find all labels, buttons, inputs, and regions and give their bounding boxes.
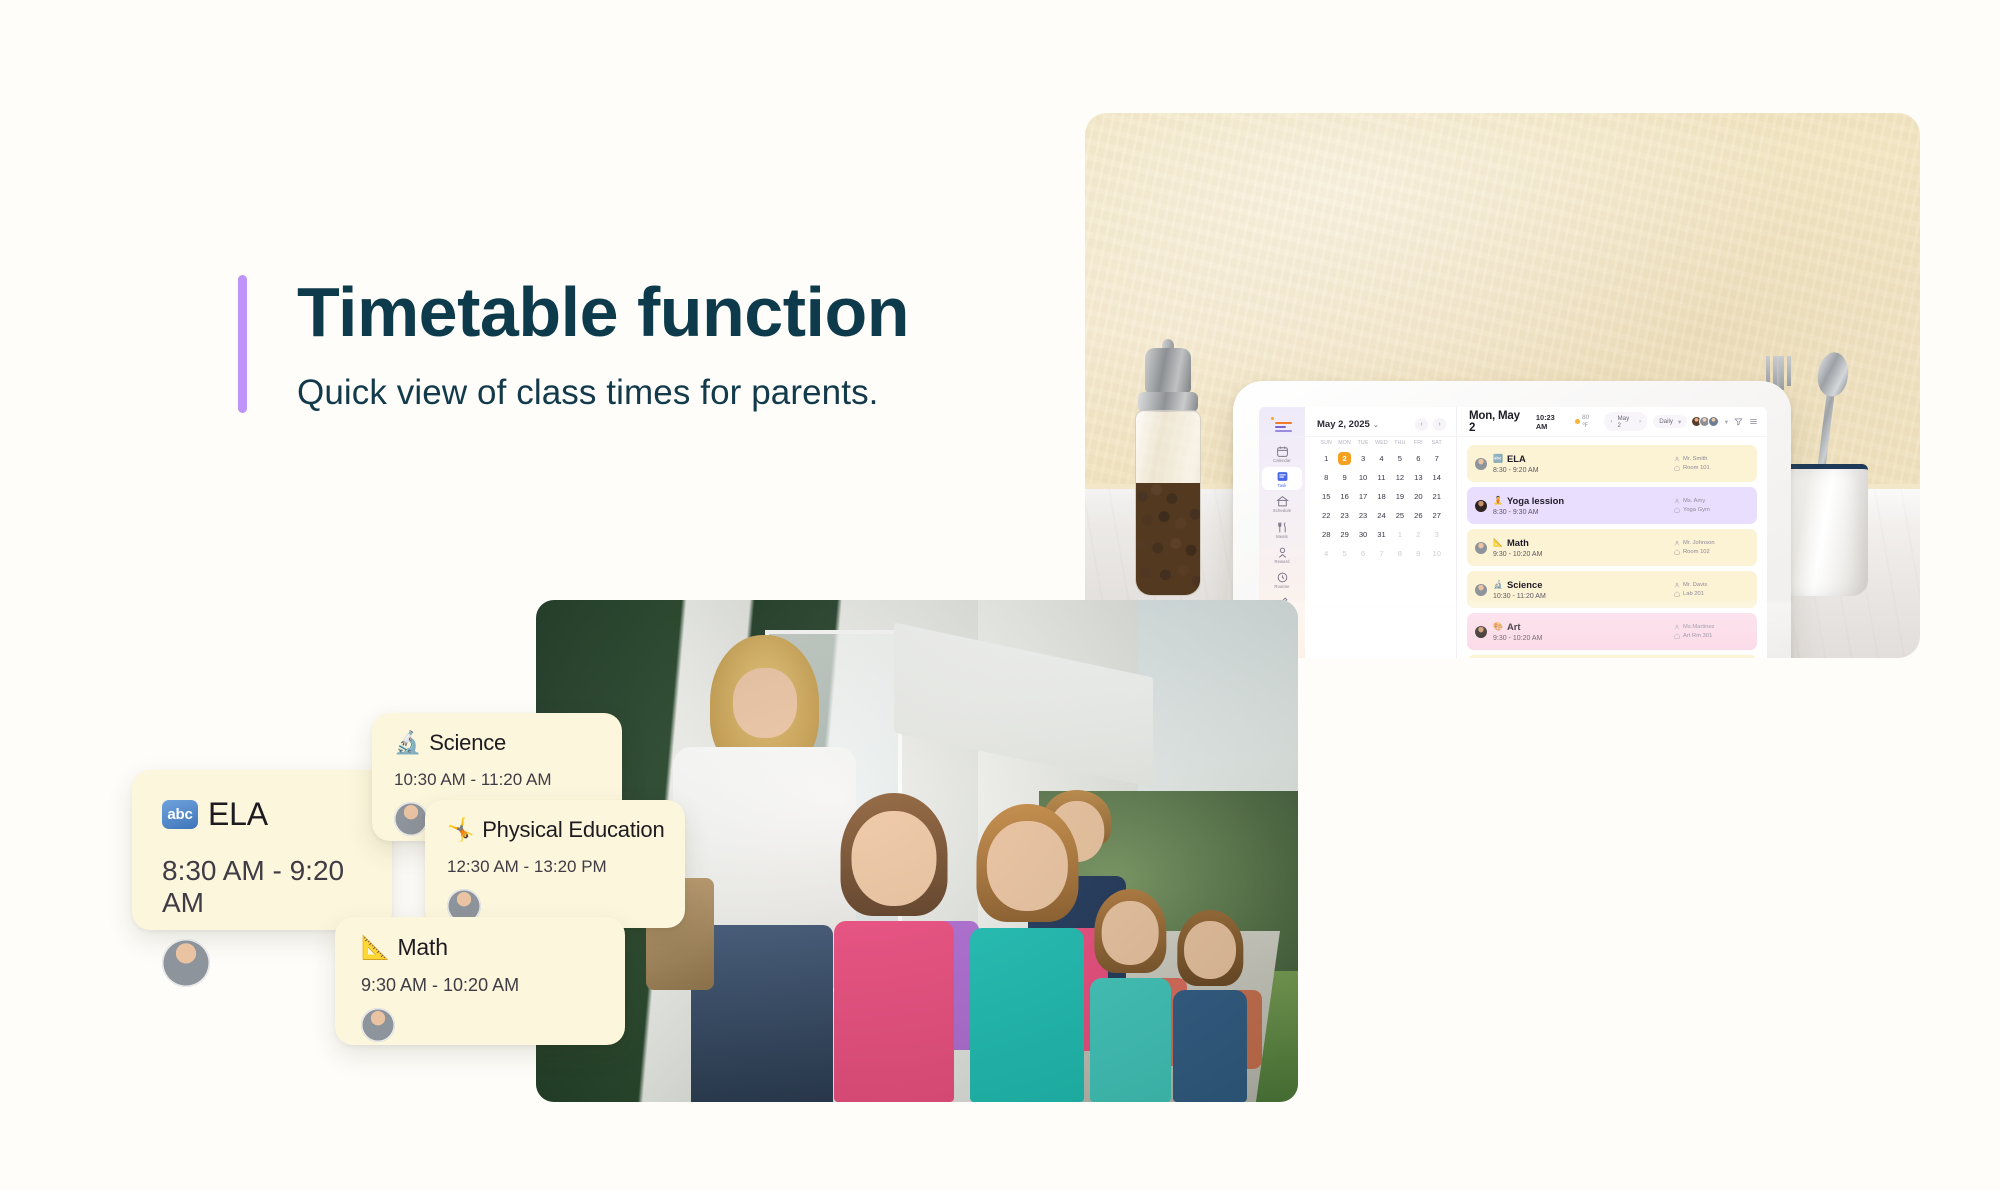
event-avatar <box>1475 542 1487 554</box>
event-time: 9:30 - 10:20 AM <box>1493 551 1668 558</box>
triangle-ruler-icon: 📐 <box>361 934 389 961</box>
class-card-math[interactable]: 📐 Math 9:30 AM - 10:20 AM <box>335 917 625 1045</box>
location-icon <box>1674 591 1680 597</box>
event-meta: Ms. AmyYoga Gym <box>1674 498 1748 513</box>
sidebar-item-task[interactable]: Task <box>1262 467 1302 490</box>
event-avatar <box>1475 458 1487 470</box>
calendar-weekday: FRI <box>1409 440 1427 446</box>
calendar-day[interactable]: 19 <box>1391 490 1409 503</box>
event-subject-icon: 📐 <box>1493 538 1503 548</box>
calendar-day[interactable]: 2 <box>1409 528 1427 541</box>
avatar[interactable] <box>1708 416 1719 427</box>
calendar-weekday: TUE <box>1354 440 1372 446</box>
event-row[interactable]: 🔤ELA8:30 - 9:20 AMMr. SmithRoom 101 <box>1467 445 1757 482</box>
calendar-day[interactable]: 23 <box>1335 509 1353 522</box>
event-teacher: Mr. Davis <box>1674 582 1707 588</box>
event-avatar <box>1475 500 1487 512</box>
calendar-weekday: SAT <box>1428 440 1446 446</box>
prev-day-button[interactable]: ‹ <box>1610 418 1612 425</box>
sidebar-label: Calendar <box>1273 459 1291 463</box>
app-topbar: Mon, May 2 10:23 AM 80 ℉ ‹ May 2 › <box>1293 407 1767 437</box>
card-title: ELA <box>208 796 268 833</box>
person-icon <box>1674 456 1680 462</box>
calendar-day[interactable]: 9 <box>1335 471 1353 484</box>
calendar-day[interactable]: 18 <box>1372 490 1390 503</box>
filter-icon[interactable] <box>1734 417 1743 426</box>
calendar-weekday: THU <box>1391 440 1409 446</box>
calendar-day[interactable]: 3 <box>1354 452 1372 465</box>
event-body: 📐Math9:30 - 10:20 AM <box>1493 537 1668 558</box>
hamburger-menu-icon[interactable] <box>1749 417 1758 426</box>
event-room: Yoga Gym <box>1674 507 1710 513</box>
event-teacher: Ms. Amy <box>1674 498 1705 504</box>
event-teacher-name: Mr. Johnson <box>1683 540 1715 546</box>
calendar-day[interactable]: 10 <box>1428 547 1446 560</box>
person-icon <box>1674 498 1680 504</box>
calendar-day[interactable]: 8 <box>1317 471 1335 484</box>
task-list-icon <box>1276 470 1289 483</box>
event-teacher-name: Mr. Smith <box>1683 456 1707 462</box>
calendar-day[interactable]: 15 <box>1317 490 1335 503</box>
next-day-button[interactable]: › <box>1639 418 1641 425</box>
card-time: 12:30 AM - 13:20 PM <box>447 857 685 877</box>
sidebar-item-schedule[interactable]: Schedule <box>1262 492 1302 515</box>
topbar-weather: 80 ℉ <box>1575 414 1597 429</box>
mini-calendar-grid[interactable]: SUNMONTUEWEDTHUFRISAT1234567891011121314… <box>1317 440 1446 560</box>
event-room-name: Yoga Gym <box>1683 507 1710 513</box>
calendar-day[interactable]: 8 <box>1391 547 1409 560</box>
pepper-grinder <box>1125 348 1211 598</box>
card-avatar <box>394 802 428 836</box>
event-title-row: 🔤ELA <box>1493 453 1668 464</box>
card-title-row: 🔬 Science <box>394 730 622 756</box>
location-icon <box>1674 465 1680 471</box>
card-title-row: 🤸 Physical Education <box>447 817 685 843</box>
person-icon <box>1674 582 1680 588</box>
weather-value: 80 ℉ <box>1582 414 1597 429</box>
page-title: Timetable function <box>297 275 909 351</box>
event-room-name: Room 102 <box>1683 549 1710 555</box>
sidebar-item-reward[interactable]: Reward <box>1262 543 1302 566</box>
calendar-day[interactable]: 7 <box>1372 547 1390 560</box>
calendar-day[interactable]: 20 <box>1409 490 1427 503</box>
calendar-day[interactable]: 29 <box>1335 528 1353 541</box>
reward-icon <box>1276 546 1289 559</box>
hero-text-block: Timetable function Quick view of class t… <box>238 275 909 413</box>
event-body: 🔤ELA8:30 - 9:20 AM <box>1493 453 1668 474</box>
calendar-day[interactable]: 30 <box>1354 528 1372 541</box>
event-title-row: 📐Math <box>1493 537 1668 548</box>
event-subject-icon: 🔤 <box>1493 454 1503 464</box>
sidebar-label: Task <box>1277 484 1286 488</box>
event-avatar <box>1475 584 1487 596</box>
card-time: 10:30 AM - 11:20 AM <box>394 770 622 790</box>
sidebar-item-meals[interactable]: Meals <box>1262 518 1302 541</box>
calendar-day[interactable]: 21 <box>1428 490 1446 503</box>
event-body: 🧘Yoga lession8:30 - 9:30 AM <box>1493 495 1668 516</box>
schedule-icon <box>1276 495 1289 508</box>
tablet-scene-photo: Calendar Task Schedule <box>1085 113 1920 658</box>
card-title-row: 📐 Math <box>361 934 625 961</box>
card-title: Science <box>429 730 506 756</box>
event-title: Science <box>1507 579 1542 590</box>
event-room: Room 101 <box>1674 465 1710 471</box>
date-stepper[interactable]: ‹ May 2 › <box>1604 412 1647 431</box>
calendar-day[interactable]: 5 <box>1335 547 1353 560</box>
event-subject-icon: 🔬 <box>1493 580 1503 590</box>
calendar-weekday: SUN <box>1317 440 1335 446</box>
sidebar-label: Routine <box>1274 585 1289 589</box>
calendar-day[interactable]: 6 <box>1354 547 1372 560</box>
page-subtitle: Quick view of class times for parents. <box>297 373 909 413</box>
calendar-day[interactable]: 5 <box>1391 452 1409 465</box>
calendar-day-selected[interactable]: 2 <box>1338 452 1351 465</box>
event-title: Math <box>1507 537 1529 548</box>
event-teacher-name: Mr. Davis <box>1683 582 1707 588</box>
event-teacher: Mr. Johnson <box>1674 540 1715 546</box>
event-time: 8:30 - 9:20 AM <box>1493 467 1668 474</box>
topbar-date: Mon, May 2 <box>1469 410 1529 434</box>
view-mode-value: Daily <box>1659 418 1673 425</box>
calendar-day[interactable]: 10 <box>1354 471 1372 484</box>
class-card-ela[interactable]: abc ELA 8:30 AM - 9:20 AM <box>132 770 392 930</box>
tablet-reflection <box>1235 602 1791 658</box>
calendar-day[interactable]: 4 <box>1372 452 1390 465</box>
event-title-row: 🧘Yoga lession <box>1493 495 1668 506</box>
meals-icon <box>1276 521 1289 534</box>
calendar-day[interactable]: 23 <box>1354 509 1372 522</box>
sidebar-label: Meals <box>1276 535 1288 539</box>
topbar-time: 10:23 AM <box>1536 413 1568 431</box>
routine-icon <box>1276 571 1289 584</box>
calendar-day[interactable]: 22 <box>1317 509 1335 522</box>
event-time: 8:30 - 9:30 AM <box>1493 509 1668 516</box>
microscope-icon: 🔬 <box>394 731 421 756</box>
calendar-day[interactable]: 7 <box>1428 452 1446 465</box>
event-meta: Mr. JohnsonRoom 102 <box>1674 540 1748 555</box>
calendar-day[interactable]: 26 <box>1409 509 1427 522</box>
calendar-day[interactable]: 1 <box>1317 452 1335 465</box>
card-title: Physical Education <box>482 817 664 843</box>
event-meta: Mr. DavisLab 201 <box>1674 582 1748 597</box>
current-date-pill: May 2 <box>1618 415 1635 429</box>
hero-copy: Timetable function Quick view of class t… <box>247 275 909 413</box>
calendar-icon <box>1276 445 1289 458</box>
calendar-day[interactable]: 25 <box>1391 509 1409 522</box>
calendar-day[interactable]: 28 <box>1317 528 1335 541</box>
event-room: Room 102 <box>1674 549 1710 555</box>
accent-bar <box>238 275 247 413</box>
event-time: 10:30 - 11:20 AM <box>1493 593 1668 600</box>
event-title-row: 🔬Science <box>1493 579 1668 590</box>
calendar-weekday: MON <box>1335 440 1353 446</box>
calendar-day[interactable]: 24 <box>1372 509 1390 522</box>
event-row[interactable]: 🧘Yoga lession8:30 - 9:30 AMMs. AmyYoga G… <box>1467 487 1757 524</box>
event-subject-icon: 🧘 <box>1493 496 1503 506</box>
sidebar-label: Schedule <box>1273 509 1291 513</box>
calendar-day[interactable]: 12 <box>1391 471 1409 484</box>
calendar-day[interactable]: 14 <box>1428 471 1446 484</box>
event-room-name: Lab 201 <box>1683 591 1704 597</box>
member-avatars[interactable] <box>1693 416 1719 427</box>
page-root: Timetable function Quick view of class t… <box>0 0 2000 1190</box>
event-title: ELA <box>1507 453 1526 464</box>
app-logo-icon <box>1271 417 1293 433</box>
calendar-day[interactable]: 6 <box>1409 452 1427 465</box>
event-teacher: Mr. Smith <box>1674 456 1707 462</box>
event-teacher-name: Ms. Amy <box>1683 498 1705 504</box>
calendar-day[interactable]: 27 <box>1428 509 1446 522</box>
card-title-row: abc ELA <box>162 796 392 833</box>
calendar-day[interactable]: 9 <box>1409 547 1427 560</box>
calendar-day[interactable]: 3 <box>1428 528 1446 541</box>
calendar-day[interactable]: 13 <box>1409 471 1427 484</box>
location-icon <box>1674 549 1680 555</box>
event-room: Lab 201 <box>1674 591 1704 597</box>
calendar-day[interactable]: 4 <box>1317 547 1335 560</box>
event-title: Yoga lession <box>1507 495 1564 506</box>
sun-icon <box>1575 419 1580 424</box>
calendar-day[interactable]: 31 <box>1372 528 1390 541</box>
chevron-down-icon: ▾ <box>1678 418 1681 426</box>
event-room-name: Room 101 <box>1683 465 1710 471</box>
event-meta: Mr. SmithRoom 101 <box>1674 456 1748 471</box>
card-time: 9:30 AM - 10:20 AM <box>361 975 625 996</box>
abc-icon: abc <box>162 800 198 829</box>
view-mode-dropdown[interactable]: Daily ▾ <box>1653 415 1687 428</box>
spoon-icon <box>1805 351 1850 480</box>
event-body: 🔬Science10:30 - 11:20 AM <box>1493 579 1668 600</box>
calendar-day[interactable]: 11 <box>1372 471 1390 484</box>
card-avatar <box>162 939 210 987</box>
card-time: 8:30 AM - 9:20 AM <box>162 855 392 919</box>
location-icon <box>1674 507 1680 513</box>
person-icon <box>1674 540 1680 546</box>
calendar-day[interactable]: 16 <box>1335 490 1353 503</box>
avatar-dropdown-caret-icon[interactable]: ▾ <box>1725 418 1728 426</box>
calendar-day[interactable]: 1 <box>1391 528 1409 541</box>
sidebar-item-calendar[interactable]: Calendar <box>1262 442 1302 465</box>
card-avatar <box>361 1008 395 1042</box>
cartwheel-icon: 🤸 <box>447 818 474 843</box>
calendar-weekday: WED <box>1372 440 1390 446</box>
calendar-day[interactable]: 17 <box>1354 490 1372 503</box>
sidebar-item-routine[interactable]: Routine <box>1262 568 1302 591</box>
card-title: Math <box>397 934 447 961</box>
class-card-physical-education[interactable]: 🤸 Physical Education 12:30 AM - 13:20 PM <box>425 800 685 928</box>
sidebar-label: Reward <box>1274 560 1289 564</box>
event-row[interactable]: 📐Math9:30 - 10:20 AMMr. JohnsonRoom 102 <box>1467 529 1757 566</box>
